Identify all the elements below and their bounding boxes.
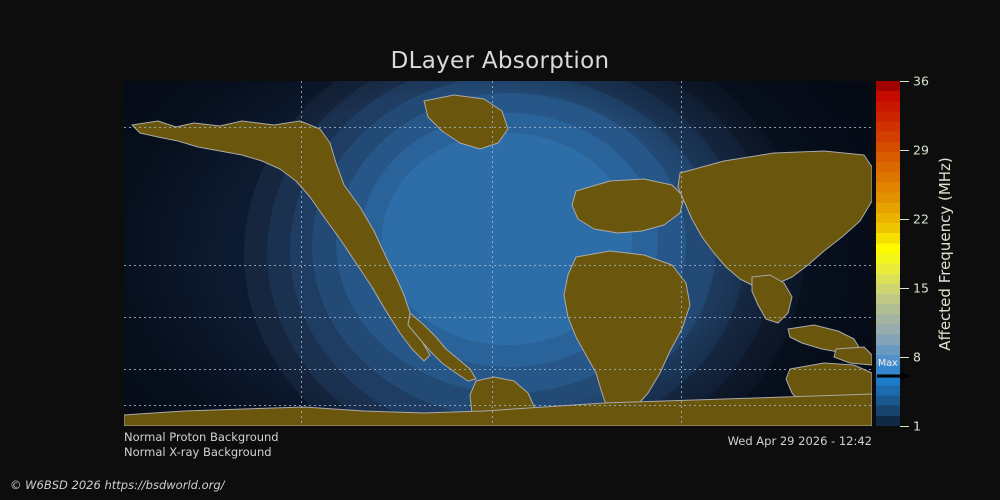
colorbar-tick-label-1: 1 <box>913 419 921 434</box>
colorbar-tick-1 <box>900 426 909 427</box>
colorbar-axis-label-text: Affected Frequency (MHz) <box>936 157 954 351</box>
max-marker-arrow-icon <box>877 372 911 380</box>
timestamp-label: Wed Apr 29 2026 - 12:42 <box>728 434 872 448</box>
world-map-panel[interactable] <box>124 81 872 426</box>
land-alaska <box>132 121 430 361</box>
landmass-layer <box>124 81 872 426</box>
colorbar-tick-36 <box>900 81 909 82</box>
land-asia <box>678 151 872 287</box>
colorbar-tick-label-29: 29 <box>913 143 929 158</box>
page-title: DLayer Absorption <box>0 48 1000 74</box>
colorbar-axis-label: Affected Frequency (MHz) <box>931 81 959 426</box>
colorbar-tick-label-22: 22 <box>913 212 929 227</box>
xray-background-note: Normal X-ray Background <box>124 445 272 459</box>
dlayer-absorption-figure: DLayer Absorption <box>0 0 1000 500</box>
copyright-label: © W6BSD 2026 https://bsdworld.org/ <box>10 478 225 492</box>
colorbar-tick-label-36: 36 <box>913 74 929 89</box>
colorbar-tick-15 <box>900 288 909 289</box>
land-europe <box>572 179 684 233</box>
colorbar-tick-29 <box>900 150 909 151</box>
colorbar-tick-22 <box>900 219 909 220</box>
max-marker-label: Max <box>878 358 898 369</box>
colorbar-max-marker: Max <box>876 358 918 384</box>
land-greenland <box>424 95 508 149</box>
land-south-asia <box>752 275 792 323</box>
land-africa <box>564 251 690 417</box>
land-new-guinea <box>834 347 872 365</box>
colorbar-tick-label-15: 15 <box>913 281 929 296</box>
proton-background-note: Normal Proton Background <box>124 430 279 444</box>
